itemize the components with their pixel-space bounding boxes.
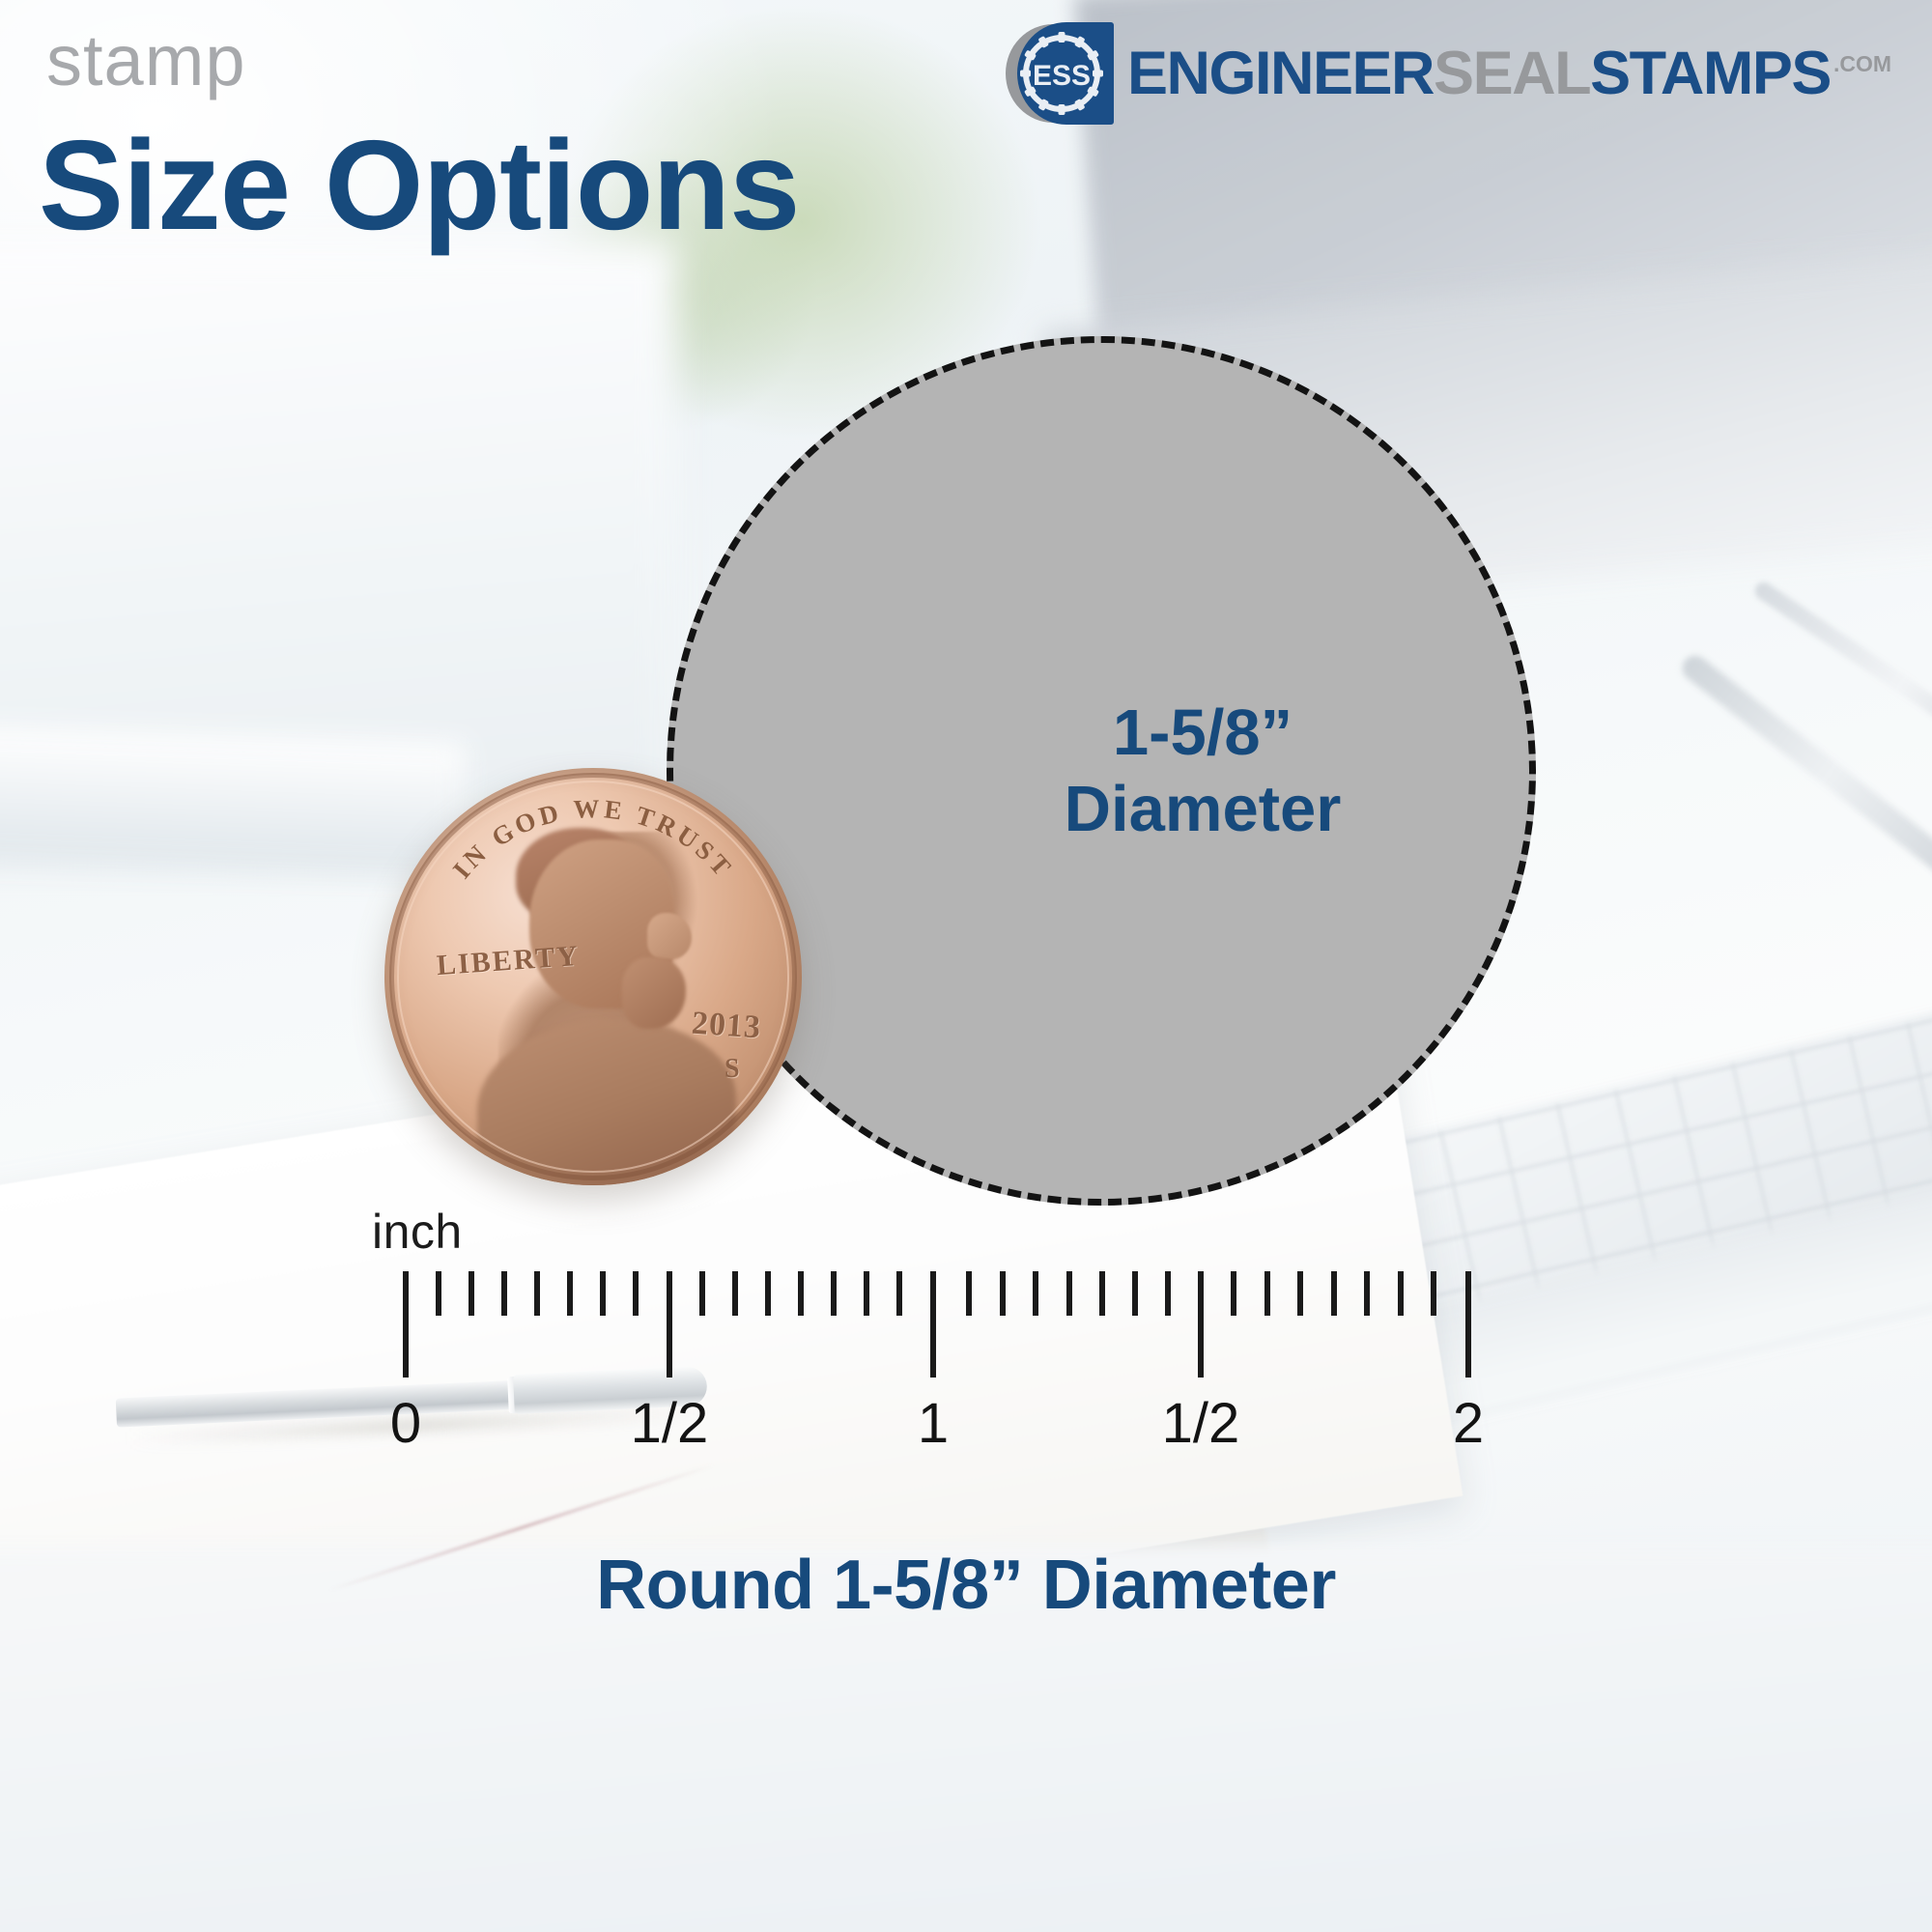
ruler-major-tick [667,1271,672,1378]
penny-motto-text: IN GOD WE TRUST [447,794,739,884]
svg-text:IN GOD WE TRUST: IN GOD WE TRUST [447,794,739,884]
ruler-minor-tick [436,1271,441,1316]
ruler-minor-tick [864,1271,869,1316]
page-title: Size Options [39,122,799,249]
ruler-minor-tick [1431,1271,1436,1316]
stamp-size-label: 1-5/8” Diameter [1065,695,1342,847]
penny-year-text: 2013 [691,1006,762,1047]
ruler-minor-tick [501,1271,507,1316]
inch-ruler: inch 01/211/22 [0,1198,1932,1546]
ruler-minor-tick [765,1271,771,1316]
penny-scale-reference: IN GOD WE TRUST LIBERTY 2013 S [384,768,802,1185]
ruler-minor-tick [633,1271,639,1316]
logo-word-seal: SEAL [1434,43,1590,104]
ruler-minor-tick [1033,1271,1038,1316]
logo-word-stamps: STAMPS [1590,43,1831,104]
ruler-major-tick [930,1271,936,1378]
page-eyebrow: stamp [46,25,246,97]
logo-badge-shield: ESS [1006,22,1114,125]
gear-icon: ESS [1015,26,1108,121]
logo-word-tld: .COM [1833,53,1891,75]
penny-mint-mark: S [724,1054,740,1085]
ruler-minor-tick [1132,1271,1138,1316]
ruler-minor-tick [567,1271,573,1316]
ruler-minor-tick [534,1271,540,1316]
size-options-graphic: stamp Size Options [0,0,1932,1932]
ruler-minor-tick [1398,1271,1404,1316]
ruler-minor-tick [966,1271,972,1316]
ruler-minor-tick [896,1271,902,1316]
ruler-minor-tick [1264,1271,1270,1316]
ruler-minor-tick [699,1271,705,1316]
ruler-unit-label: inch [372,1204,463,1260]
stamp-size-line-1: 1-5/8” [1065,695,1342,771]
ruler-minor-tick [1000,1271,1006,1316]
ruler-tick-label: 1 [918,1391,949,1456]
logo-badge-text: ESS [1033,60,1091,92]
ruler-minor-tick [1231,1271,1236,1316]
ruler-minor-tick [1297,1271,1303,1316]
ruler-major-tick [403,1271,409,1378]
ruler-minor-tick [798,1271,804,1316]
logo-wordmark: ENGINEERSEALSTAMPS.COM [1127,43,1891,104]
size-caption: Round 1-5/8” Diameter [0,1546,1932,1625]
ruler-minor-tick [732,1271,738,1316]
ruler-minor-tick [469,1271,474,1316]
ruler-minor-tick [1165,1271,1171,1316]
ruler-minor-tick [831,1271,837,1316]
ruler-major-tick [1465,1271,1471,1378]
ruler-minor-tick [600,1271,606,1316]
ruler-minor-tick [1099,1271,1105,1316]
ruler-minor-tick [1364,1271,1370,1316]
logo-word-engineer: ENGINEER [1127,43,1434,104]
ruler-minor-tick [1066,1271,1072,1316]
ruler-tick-label: 0 [390,1391,421,1456]
brand-logo[interactable]: ESS ENGINEERSEALSTAMPS.COM [1006,21,1891,126]
stamp-size-line-2: Diameter [1065,771,1342,847]
ruler-tick-label: 1/2 [1162,1391,1240,1456]
ruler-tick-label: 2 [1453,1391,1484,1456]
ruler-major-tick [1198,1271,1204,1378]
ruler-tick-label: 1/2 [631,1391,709,1456]
ruler-minor-tick [1331,1271,1337,1316]
